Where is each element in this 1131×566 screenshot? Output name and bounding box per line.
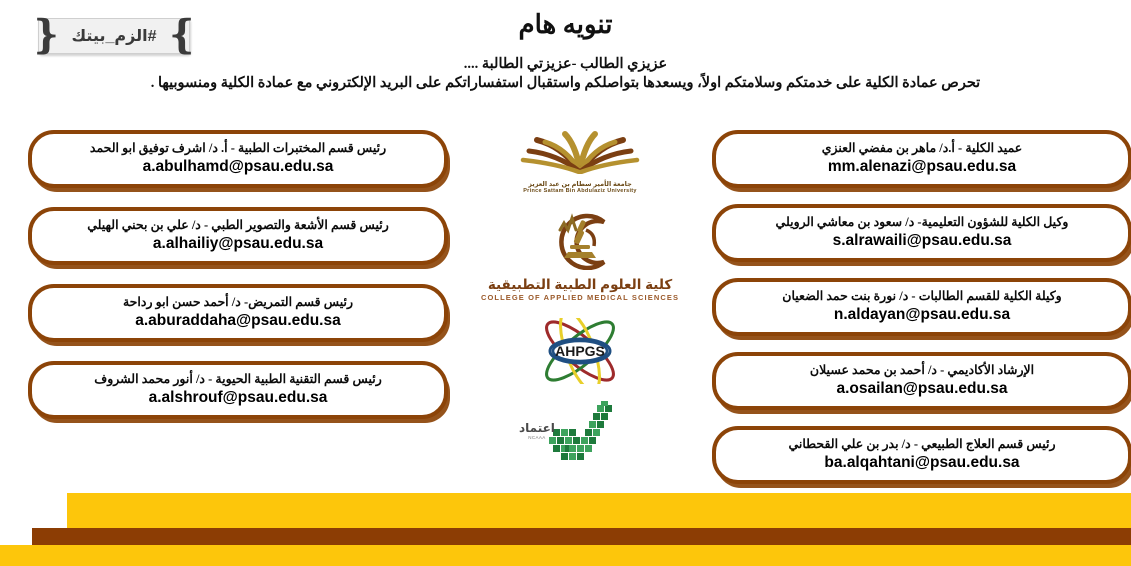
- contact-email[interactable]: mm.alenazi@psau.edu.sa: [730, 157, 1114, 177]
- contact-card[interactable]: رئيس قسم المختبرات الطبية - أ. د/ اشرف ت…: [28, 130, 448, 188]
- microscope-crescent-icon: [534, 212, 626, 270]
- open-book-icon: [505, 126, 655, 174]
- contact-email[interactable]: a.alshrouf@psau.edu.sa: [46, 388, 430, 408]
- ahpgs-atom-icon: AHPGS: [526, 318, 634, 384]
- contact-email[interactable]: a.aburaddaha@psau.edu.sa: [46, 311, 430, 331]
- contact-card[interactable]: رئيس قسم التمريض- د/ أحمد حسن ابو رداحة …: [28, 284, 448, 342]
- contacts-left-column: رئيس قسم المختبرات الطبية - أ. د/ اشرف ت…: [28, 130, 448, 419]
- footer-gold-strip: [0, 545, 1131, 566]
- contact-card[interactable]: رئيس قسم التقنية الطبية الحيوية - د/ أنو…: [28, 361, 448, 419]
- contact-email[interactable]: a.abulhamd@psau.edu.sa: [46, 157, 430, 177]
- contact-title: رئيس قسم المختبرات الطبية - أ. د/ اشرف ت…: [46, 140, 430, 156]
- page-title: تنويه هام: [0, 10, 1131, 40]
- etemad-sublabel: NCAAA: [519, 435, 555, 440]
- psau-caption-en: Prince Sattam Bin Abdulaziz University: [505, 188, 655, 194]
- contact-email[interactable]: a.alhailiy@psau.edu.sa: [46, 234, 430, 254]
- intro-line-1: عزيزي الطالب -عزيزتي الطالبة ....: [0, 55, 1131, 74]
- cams-caption-ar: كلية العلوم الطبية التطبيقية: [481, 277, 679, 293]
- contact-title: الإرشاد الأكاديمي - د/ أحمد بن محمد عسيل…: [730, 362, 1114, 378]
- psau-caption-ar: جامعة الأمير سطام بن عبد العزيز: [505, 180, 655, 188]
- contact-title: وكيلة الكلية للقسم الطالبات - د/ نورة بن…: [730, 288, 1114, 304]
- contact-card[interactable]: وكيل الكلية للشؤون التعليمية- د/ سعود بن…: [712, 204, 1131, 262]
- contact-card[interactable]: رئيس قسم الأشعة والتصوير الطبي - د/ علي …: [28, 207, 448, 265]
- contact-title: رئيس قسم التمريض- د/ أحمد حسن ابو رداحة: [46, 294, 430, 310]
- contact-email[interactable]: s.alrawaili@psau.edu.sa: [730, 231, 1114, 251]
- contact-email[interactable]: a.osailan@psau.edu.sa: [730, 379, 1114, 399]
- psau-logo: جامعة الأمير سطام بن عبد العزيز Prince S…: [505, 126, 655, 194]
- contact-title: عميد الكلية - أ.د/ ماهر بن مفضي العنزي: [730, 140, 1114, 156]
- contact-email[interactable]: n.aldayan@psau.edu.sa: [730, 305, 1114, 325]
- etemad-label: اعتماد: [519, 421, 555, 435]
- contacts-right-column: عميد الكلية - أ.د/ ماهر بن مفضي العنزي m…: [712, 130, 1131, 484]
- contact-card[interactable]: وكيلة الكلية للقسم الطالبات - د/ نورة بن…: [712, 278, 1131, 336]
- logo-strip: جامعة الأمير سطام بن عبد العزيز Prince S…: [475, 122, 685, 466]
- cams-logo: كلية العلوم الطبية التطبيقية COLLEGE OF …: [481, 212, 679, 302]
- etemad-logo: اعتماد NCAAA: [511, 401, 649, 466]
- ahpgs-label: AHPGS: [555, 343, 605, 359]
- contact-title: وكيل الكلية للشؤون التعليمية- د/ سعود بن…: [730, 214, 1114, 230]
- contact-title: رئيس قسم الأشعة والتصوير الطبي - د/ علي …: [46, 217, 430, 233]
- contact-card[interactable]: الإرشاد الأكاديمي - د/ أحمد بن محمد عسيل…: [712, 352, 1131, 410]
- contact-title: رئيس قسم العلاج الطبيعي - د/ بدر بن علي …: [730, 436, 1114, 452]
- intro-line-2: تحرص عمادة الكلية على خدمتكم وسلامتكم او…: [0, 74, 1131, 93]
- intro-paragraph: عزيزي الطالب -عزيزتي الطالبة .... تحرص ع…: [0, 55, 1131, 93]
- contact-card[interactable]: رئيس قسم العلاج الطبيعي - د/ بدر بن علي …: [712, 426, 1131, 484]
- ahpgs-logo: AHPGS: [526, 318, 634, 389]
- notice-poster: ❴ #الزم_بيتك ❵ تنويه هام عزيزي الطالب -ع…: [0, 0, 1131, 566]
- contact-email[interactable]: ba.alqahtani@psau.edu.sa: [730, 453, 1114, 473]
- contact-card[interactable]: عميد الكلية - أ.د/ ماهر بن مفضي العنزي m…: [712, 130, 1131, 188]
- cams-caption-en: COLLEGE OF APPLIED MEDICAL SCIENCES: [481, 293, 679, 302]
- contact-title: رئيس قسم التقنية الطبية الحيوية - د/ أنو…: [46, 371, 430, 387]
